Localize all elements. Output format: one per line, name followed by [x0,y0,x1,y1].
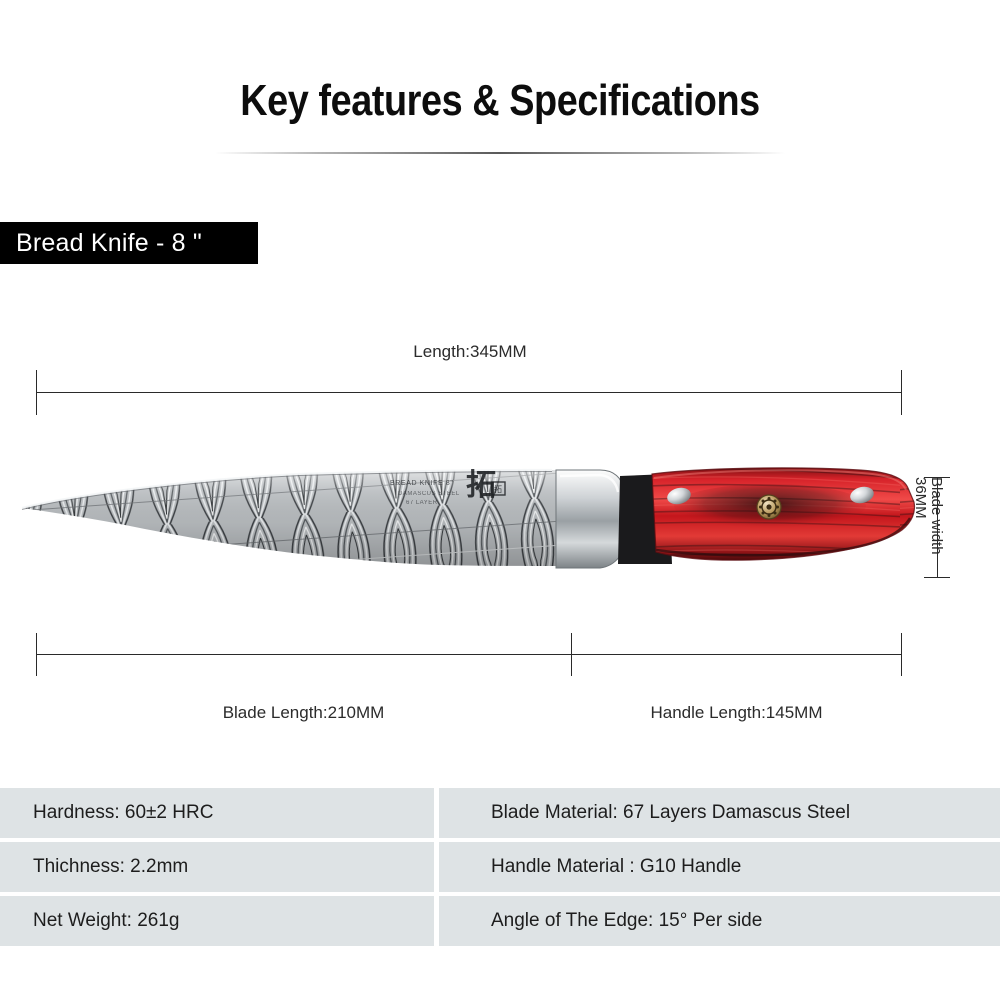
spec-blade-material: Blade Material: 67 Layers Damascus Steel [439,788,1000,838]
title-divider [215,152,785,154]
spec-net-weight: Net Weight: 261g [0,896,434,946]
knife-illustration: 拓 拓 BREAD KNIFE 8" DAMASCUS STEEL 67 LAY… [0,440,1000,620]
blade-width-label: Blade width 36MM [922,477,944,578]
lower-tick-left [36,633,37,676]
blade-etch-line-1: BREAD KNIFE 8" [390,480,453,487]
page-title: Key features & Specifications [70,76,930,126]
table-row: Net Weight: 261g Angle of The Edge: 15° … [0,896,1000,946]
table-row: Thichness: 2.2mm Handle Material : G10 H… [0,842,1000,892]
handle-mosaic-pin [757,495,781,519]
blade-width-value: 36MM [912,477,928,578]
lower-dimension-line [36,654,902,655]
blade-etch-line-3: 67 LAYER [406,500,438,506]
knife-blade: 拓 拓 BREAD KNIFE 8" DAMASCUS STEEL 67 LAY… [0,469,580,620]
overall-length-label: Length:345MM [0,342,940,362]
handle-length-label: Handle Length:145MM [571,703,902,723]
blade-width-title: Blade width [928,477,944,578]
knife-bolster [556,470,626,568]
knife-handle [652,468,915,560]
spec-thickness: Thichness: 2.2mm [0,842,434,892]
spec-hardness: Hardness: 60±2 HRC [0,788,434,838]
overall-length-tick-right [901,370,902,415]
lower-tick-right [901,633,902,676]
spec-edge-angle: Angle of The Edge: 15° Per side [439,896,1000,946]
table-row: Hardness: 60±2 HRC Blade Material: 67 La… [0,788,1000,838]
overall-length-tick-left [36,370,37,415]
spec-handle-material: Handle Material : G10 Handle [439,842,1000,892]
blade-length-label: Blade Length:210MM [36,703,571,723]
overall-length-dimension-line [36,392,902,393]
svg-text:拓: 拓 [494,484,502,494]
specifications-table: Hardness: 60±2 HRC Blade Material: 67 La… [0,788,1000,950]
lower-tick-middle [571,633,572,676]
blade-etch-line-2: DAMASCUS STEEL [398,491,460,497]
product-name-badge: Bread Knife - 8 " [0,222,258,264]
